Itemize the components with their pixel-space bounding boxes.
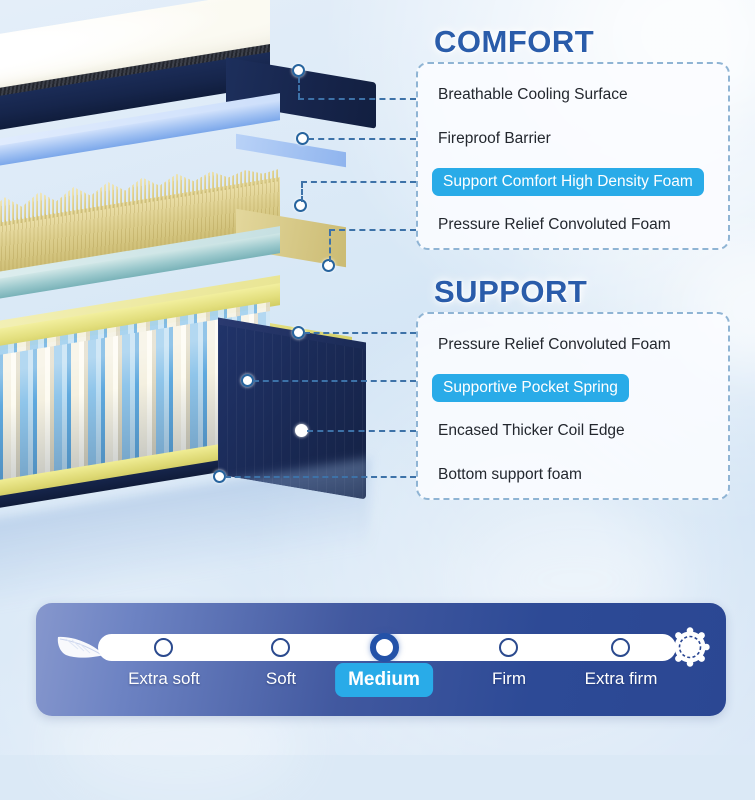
connector-line-pressure-relief [304,332,416,334]
support-item-1[interactable]: Supportive Pocket Spring [418,367,728,409]
section-title-comfort: COMFORT [434,24,594,60]
support-item-0[interactable]: Pressure Relief Convoluted Foam [418,323,728,367]
connector-line-segment [298,77,300,99]
firmness-node-firm[interactable] [499,638,518,657]
comfort-item-2-label: Support Comfort High Density Foam [432,168,704,196]
section-title-support: SUPPORT [434,274,587,310]
firmness-node-extra-soft[interactable] [154,638,173,657]
firmness-scale: Extra soft Soft Medium Firm Extra firm [36,603,726,716]
firmness-label-soft[interactable]: Soft [266,669,296,689]
connector-line-fireproof [308,138,416,140]
support-item-1-label: Supportive Pocket Spring [432,374,629,402]
support-item-2[interactable]: Encased Thicker Coil Edge [418,409,728,453]
connector-line-segment [301,182,303,202]
firmness-label-firm[interactable]: Firm [492,669,526,689]
firmness-node-extra-firm[interactable] [611,638,630,657]
connector-line-coil-edge [307,430,416,432]
connector-line-segment [329,230,331,262]
support-item-2-label: Encased Thicker Coil Edge [438,422,625,440]
connector-line-pocket-spring [253,380,416,382]
firmness-node-soft[interactable] [271,638,290,657]
infographic-canvas: COMFORT Breathable Cooling Surface Firep… [0,0,755,755]
support-card: Pressure Relief Convoluted Foam Supporti… [416,312,730,500]
support-item-3-label: Bottom support foam [438,466,582,484]
comfort-item-1-label: Fireproof Barrier [438,130,551,148]
comfort-item-3-label: Pressure Relief Convoluted Foam [438,216,671,234]
comfort-item-2[interactable]: Support Comfort High Density Foam [418,161,728,203]
comfort-item-3[interactable]: Pressure Relief Convoluted Foam [418,203,728,247]
firmness-label-extra-soft[interactable]: Extra soft [128,669,200,689]
support-item-0-label: Pressure Relief Convoluted Foam [438,336,671,354]
comfort-item-1[interactable]: Fireproof Barrier [418,117,728,161]
firmness-label-medium[interactable]: Medium [335,663,433,697]
connector-line-convoluted-foam [329,229,416,231]
comfort-item-0-label: Breathable Cooling Surface [438,86,628,104]
comfort-card: Breathable Cooling Surface Fireproof Bar… [416,62,730,250]
connector-line-high-density-foam [301,181,416,183]
firmness-label-extra-firm[interactable]: Extra firm [585,669,658,689]
comfort-item-0[interactable]: Breathable Cooling Surface [418,73,728,117]
connector-line-bottom-foam [225,476,416,478]
mattress-exploded-view [0,0,420,600]
firmness-track[interactable] [98,634,676,661]
support-item-3[interactable]: Bottom support foam [418,453,728,497]
firmness-node-medium[interactable] [370,633,399,662]
connector-line-cooling-surface [298,98,416,100]
connector-dot-cooling-surface [292,64,305,77]
rock-icon [670,627,710,667]
